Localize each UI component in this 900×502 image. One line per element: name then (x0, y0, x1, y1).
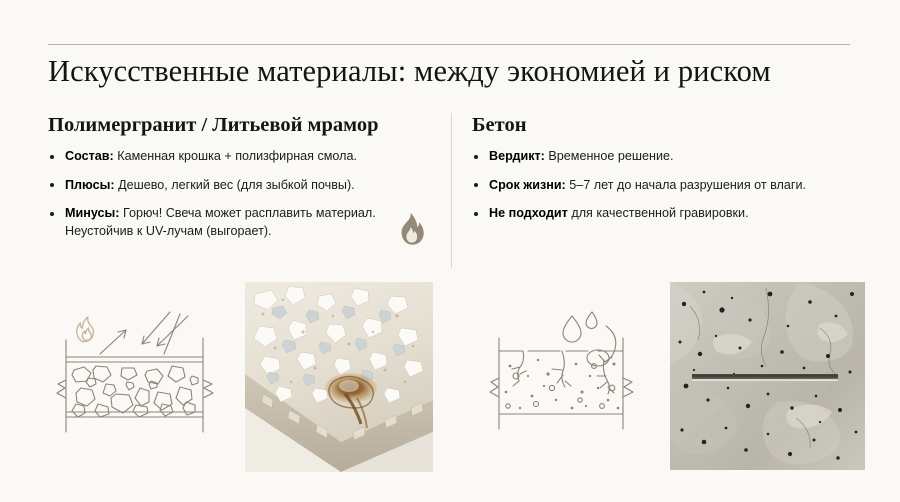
bullet-text: для качественной гравировки. (568, 206, 749, 220)
weathered-concrete-photo (670, 282, 865, 470)
bullet-text: Временное решение. (545, 149, 674, 163)
bullet-lead: Состав: (65, 149, 114, 163)
column-divider (451, 113, 452, 268)
bullet-lead: Плюсы: (65, 178, 115, 192)
column-concrete-bullet-list: Вердикт: Временное решение. Срок жизни: … (472, 148, 860, 223)
list-item: Состав: Каменная крошка + полизфирная см… (48, 148, 430, 166)
page-title: Искусственные материалы: между экономией… (48, 52, 858, 90)
bullet-text: Каменная крошка + полизфирная смола. (114, 149, 357, 163)
concrete-cross-section-diagram (486, 296, 644, 460)
polymer-cross-section-diagram (52, 292, 230, 464)
bullet-text: Дешево, легкий вес (для зыбкой почвы). (115, 178, 355, 192)
bullet-lead: Срок жизни: (489, 178, 566, 192)
list-item: Вердикт: Временное решение. (472, 148, 860, 166)
column-polymer-bullet-list: Состав: Каменная крошка + полизфирная см… (48, 148, 430, 240)
bullet-lead: Не подходит (489, 206, 568, 220)
top-divider-rule (48, 44, 850, 45)
column-polymer-heading: Полимергранит / Литьевой мрамор (48, 112, 430, 138)
bullet-lead: Вердикт: (489, 149, 545, 163)
column-polymer: Полимергранит / Литьевой мрамор Состав: … (48, 112, 430, 251)
polymer-granite-slab-photo (245, 282, 433, 472)
column-concrete: Бетон Вердикт: Временное решение. Срок ж… (472, 112, 860, 234)
slide-root: Искусственные материалы: между экономией… (0, 0, 900, 502)
list-item: Минусы: Горюч! Свеча может расплавить ма… (48, 205, 430, 240)
list-item: Не подходит для качественной гравировки. (472, 205, 860, 223)
bullet-lead: Минусы: (65, 206, 119, 220)
flame-icon (396, 212, 424, 246)
list-item: Срок жизни: 5–7 лет до начала разрушения… (472, 177, 860, 195)
bullet-text: 5–7 лет до начала разрушения от влаги. (566, 178, 806, 192)
list-item: Плюсы: Дешево, легкий вес (для зыбкой по… (48, 177, 430, 195)
column-concrete-heading: Бетон (472, 112, 860, 138)
